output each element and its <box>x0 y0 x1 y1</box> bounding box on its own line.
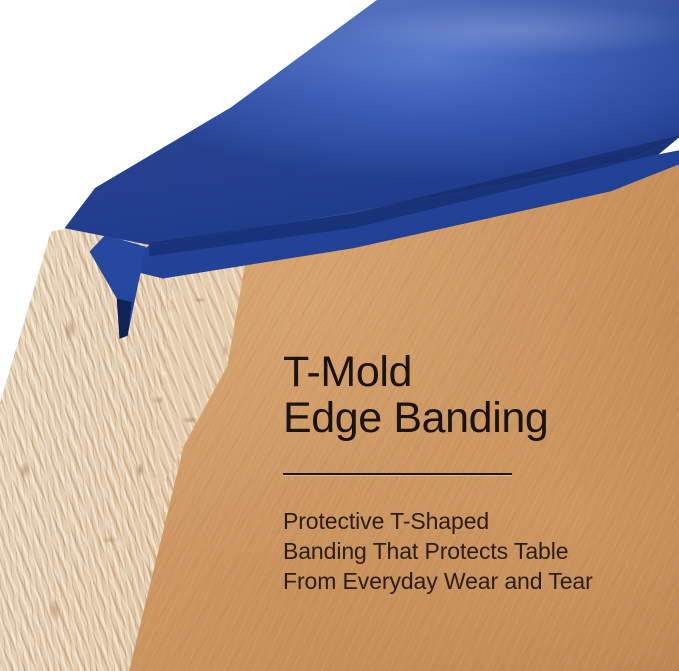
caption-title: T-Mold Edge Banding <box>283 349 659 441</box>
caption-block: T-Mold Edge Banding Protective T-Shaped … <box>283 349 659 596</box>
caption-divider <box>283 473 512 475</box>
product-image-canvas: T-Mold Edge Banding Protective T-Shaped … <box>0 0 679 671</box>
caption-subtitle: Protective T-Shaped Banding That Protect… <box>283 506 659 596</box>
